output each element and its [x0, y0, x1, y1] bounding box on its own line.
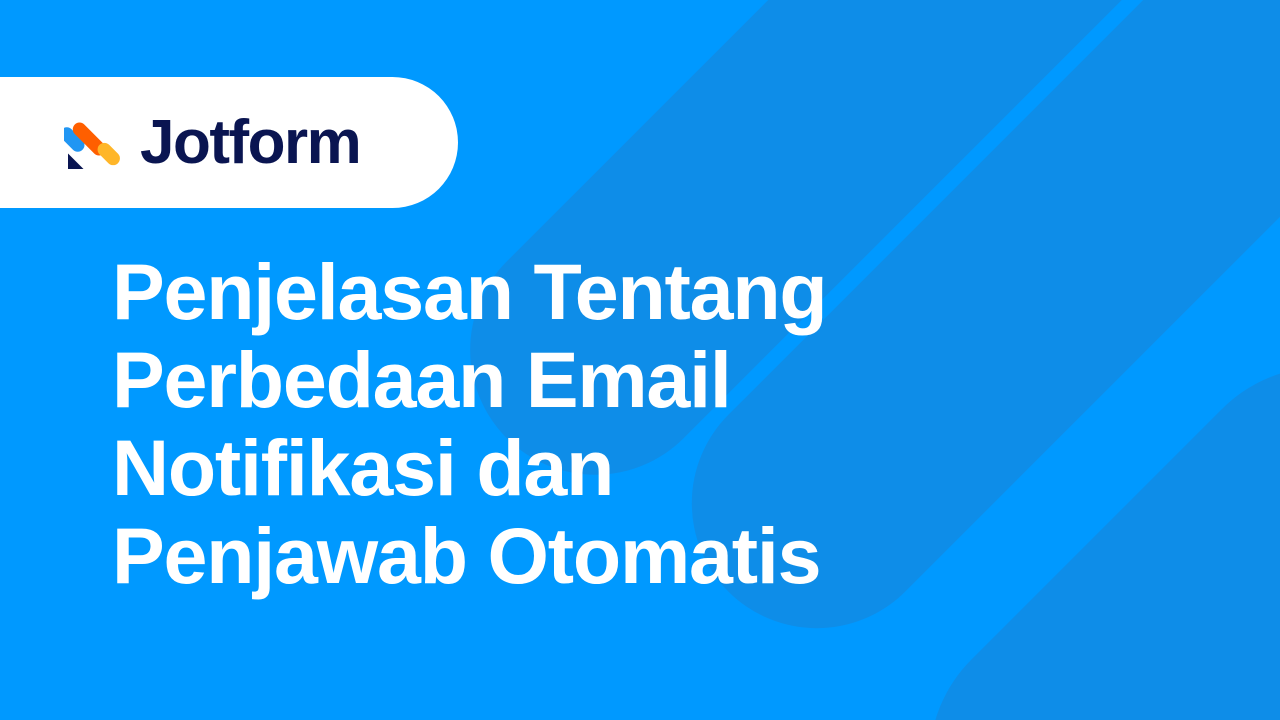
jotform-wordmark: Jotform: [140, 112, 360, 174]
logo-badge: Jotform: [0, 77, 458, 208]
page-title-line-4: Penjawab Otomatis: [112, 512, 872, 600]
logo-navy-corner: [68, 153, 84, 169]
page-title-line-3: Notifikasi dan: [112, 424, 872, 512]
jotform-logo: Jotform: [64, 112, 360, 174]
page-title-line-2: Perbedaan Email: [112, 336, 872, 424]
page-title-line-1: Penjelasan Tentang: [112, 248, 872, 336]
hero-card: Jotform Penjelasan Tentang Perbedaan Ema…: [0, 0, 1280, 720]
jotform-logo-mark-icon: [64, 115, 120, 171]
decor-capsule-3: [870, 308, 1280, 720]
page-title: Penjelasan Tentang Perbedaan Email Notif…: [112, 248, 872, 600]
